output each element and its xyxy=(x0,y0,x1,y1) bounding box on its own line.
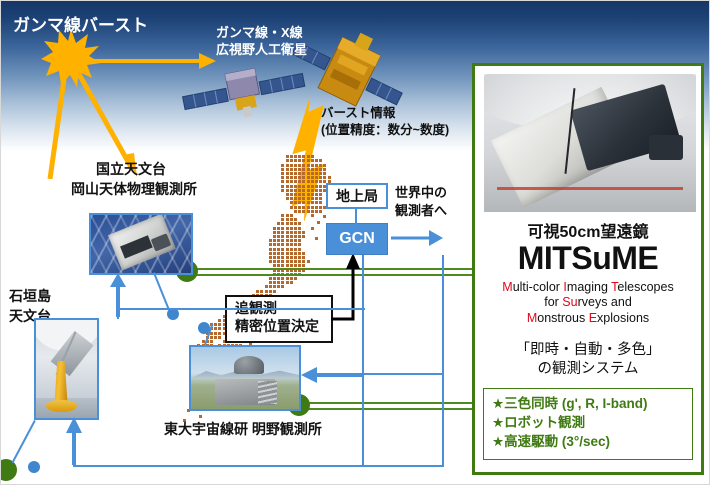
ishigaki-label-line1: 石垣島 xyxy=(9,288,51,306)
photo-mitsume-telescope xyxy=(484,74,696,212)
map-pin-icon xyxy=(28,461,40,473)
photo-okayama-telescope xyxy=(89,213,193,275)
link-ground-to-gcn xyxy=(355,208,357,224)
okayama-label-line1: 国立天文台 xyxy=(96,161,166,179)
mitsume-photo-caption: 可視50cm望遠鏡 xyxy=(475,218,701,242)
acronym-line-1: Multi-color Imaging Telescopes xyxy=(479,280,697,295)
okayama-label-line2: 岡山天体物理観測所 xyxy=(71,181,197,199)
observatory-node-icon xyxy=(0,459,17,481)
satellite-label-line2: 広視野人工衛星 xyxy=(216,42,307,58)
bus-gcn-vertical xyxy=(362,255,364,467)
acronym-line-2: for Surveys and xyxy=(479,295,697,310)
ground-station-box[interactable]: 地上局 xyxy=(326,183,388,209)
feature-item: ★三色同時 (g', R, I-band) xyxy=(492,394,684,413)
worldwide-label-line1: 世界中の xyxy=(395,185,447,201)
feature-item: ★高速駆動 (3°/sec) xyxy=(492,432,684,451)
gcn-box[interactable]: GCN xyxy=(326,223,388,255)
bus-akeno-feed xyxy=(362,373,444,375)
arrow-gcn-to-akeno xyxy=(301,366,363,384)
followup-line2: 精密位置決定 xyxy=(235,318,323,336)
satellite-label-line1: ガンマ線・X線 xyxy=(216,25,303,41)
pointer-ishigaki-to-map xyxy=(11,420,35,463)
map-pin-icon xyxy=(198,322,210,334)
arrow-gcn-to-world xyxy=(391,229,443,247)
burst-info-line1: バースト情報 xyxy=(321,106,395,122)
acronym-text-2c: rveys and xyxy=(578,295,632,309)
photo-akeno-observatory xyxy=(189,345,301,411)
mitsume-system-description: 「即時・自動・多色」 の観測システム xyxy=(479,341,697,379)
acronym-letter-m1: M xyxy=(502,280,512,294)
acronym-letter-m2: M xyxy=(527,311,537,325)
followup-annotation-box: 追観測 精密位置決定 xyxy=(225,295,333,343)
acronym-letter-s: S xyxy=(562,295,570,309)
acronym-text-1c: elescopes xyxy=(617,280,673,294)
acronym-text-3b: xplosions xyxy=(597,311,649,325)
mitsume-info-panel: 可視50cm望遠鏡 MITSuME Multi-color Imaging Te… xyxy=(472,63,704,475)
mitsume-title: MITSuME xyxy=(475,240,701,277)
system-line1: 「即時・自動・多色」 xyxy=(479,341,697,360)
acronym-text-3a: onstrous xyxy=(537,311,588,325)
mitsume-features-box: ★三色同時 (g', R, I-band) ★ロボット観測 ★高速駆動 (3°/… xyxy=(483,388,693,460)
acronym-text-1a: ulti-color xyxy=(513,280,564,294)
bus-bottom-right xyxy=(362,465,444,467)
akeno-label: 東大宇宙線研 明野観測所 xyxy=(164,421,322,439)
pointer-okayama-to-map xyxy=(153,272,170,310)
arrow-followup-to-gcn xyxy=(331,253,363,325)
bus-bottom-horizontal xyxy=(73,465,364,467)
bus-okayama-feed xyxy=(117,308,365,310)
burst-info-line2: (位置精度：数分~数度) xyxy=(321,123,449,139)
diagram-canvas: ガンマ線バースト xyxy=(0,0,710,485)
acronym-text-1b: maging xyxy=(567,280,611,294)
grb-label: ガンマ線バースト xyxy=(13,15,148,36)
acronym-text-2a: for xyxy=(544,295,562,309)
worldwide-label-line2: 観測者へ xyxy=(395,203,447,219)
photo-ishigaki-telescope xyxy=(34,318,99,420)
green-link-akeno xyxy=(301,402,474,404)
acronym-letter-u: u xyxy=(571,295,578,309)
mitsume-acronym: Multi-color Imaging Telescopes for Surve… xyxy=(479,280,697,326)
bus-ishigaki-riser xyxy=(73,445,75,467)
green-link-akeno-2 xyxy=(301,408,474,410)
feature-item: ★ロボット観測 xyxy=(492,413,684,432)
acronym-letter-e: E xyxy=(589,311,597,325)
bus-right-vertical xyxy=(442,255,444,467)
system-line2: の観測システム xyxy=(479,360,697,379)
acronym-line-3: Monstrous Explosions xyxy=(479,311,697,326)
bus-okayama-riser xyxy=(117,301,119,319)
